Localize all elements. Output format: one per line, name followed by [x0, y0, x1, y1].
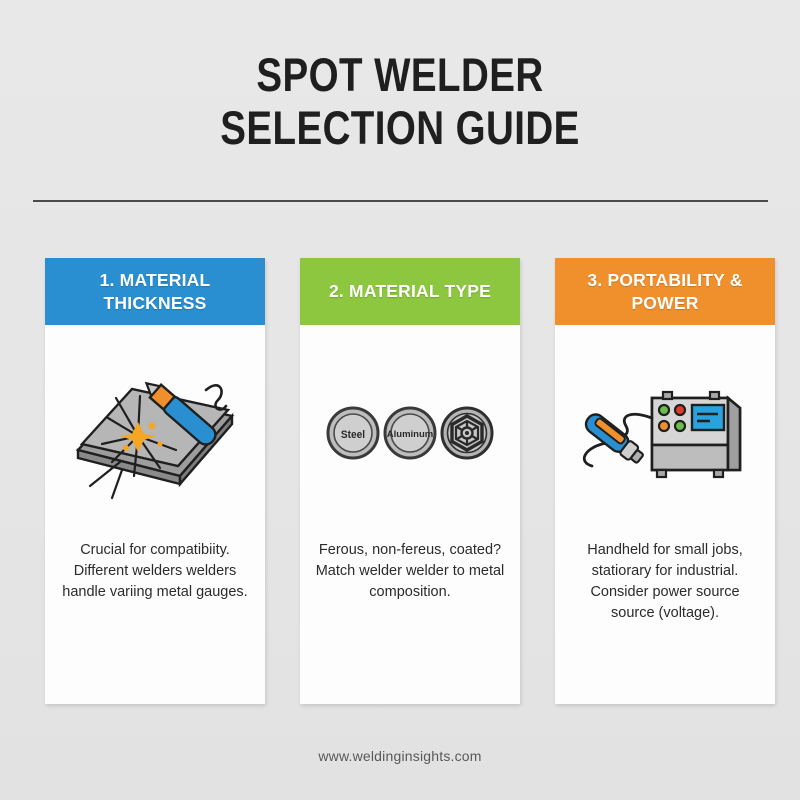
card-2-body: Ferous, non-fereus, coated? Match welder… — [300, 540, 520, 704]
svg-text:Steel: Steel — [340, 428, 364, 440]
welding-machine-illustration — [568, 370, 763, 495]
card-3-art — [555, 325, 775, 540]
footer-url[interactable]: www.weldinginsights.com — [0, 748, 800, 764]
page-title: SPOT WELDER SELECTION GUIDE — [0, 48, 800, 154]
card-2-header: 2. MATERIAL TYPE — [300, 258, 520, 325]
title-line-1: SPOT WELDER — [72, 48, 728, 101]
card-list: 1. MATERIAL THICKNESS — [45, 258, 775, 704]
card-3-header: 3. PORTABILITY & POWER — [555, 258, 775, 325]
title-divider — [33, 200, 768, 202]
card-2-art: Steel Aluminum — [300, 325, 520, 540]
card-portability-power[interactable]: 3. PORTABILITY & POWER — [555, 258, 775, 704]
badge-steel: Steel — [328, 408, 378, 458]
badge-alloy — [442, 408, 492, 458]
card-material-thickness[interactable]: 1. MATERIAL THICKNESS — [45, 258, 265, 704]
badge-aluminum: Aluminum — [385, 408, 435, 458]
infographic-page: SPOT WELDER SELECTION GUIDE 1. MATERIAL … — [0, 0, 800, 800]
svg-text:Aluminum: Aluminum — [386, 429, 432, 440]
welding-sheets-illustration — [60, 358, 250, 508]
material-badges-illustration: Steel Aluminum — [323, 398, 498, 468]
card-material-type[interactable]: 2. MATERIAL TYPE Steel Aluminum — [300, 258, 520, 704]
title-line-2: SELECTION GUIDE — [72, 101, 728, 154]
card-3-body: Handheld for small jobs, statiorary for … — [555, 540, 775, 704]
card-1-body: Crucial for compatibiity. Different weld… — [45, 540, 265, 704]
card-1-art — [45, 325, 265, 540]
card-1-header: 1. MATERIAL THICKNESS — [45, 258, 265, 325]
